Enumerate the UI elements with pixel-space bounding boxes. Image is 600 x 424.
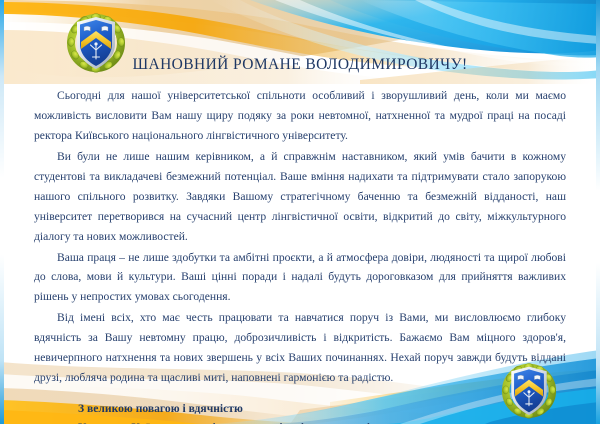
- paragraph-2: Ви були не лише нашим керівником, а й сп…: [34, 147, 566, 247]
- paragraph-1: Сьогодні для нашої університетської спіл…: [34, 86, 566, 146]
- letter-body: Сьогодні для нашої університетської спіл…: [34, 86, 566, 424]
- torch-flame-shape: [527, 390, 530, 393]
- signature-line-1: З великою повагою і вдячністю: [78, 400, 566, 419]
- page-title: ШАНОВНИЙ РОМАНЕ ВОЛОДИМИРОВИЧУ!: [0, 56, 600, 74]
- paragraph-3: Ваша праця – не лише здобутки та амбітні…: [34, 248, 566, 308]
- signature-line-2: Колектив Київського національного лінгві…: [78, 419, 566, 424]
- torch-flame-shape: [94, 42, 97, 45]
- paragraph-4: Від імені всіх, хто має честь працювати …: [34, 308, 566, 388]
- signature-block: З великою повагою і вдячністю Колектив К…: [34, 400, 566, 424]
- university-emblem-bottom: [501, 361, 557, 420]
- greeting-card-page: ШАНОВНИЙ РОМАНЕ ВОЛОДИМИРОВИЧУ! Сьогодні…: [0, 0, 600, 424]
